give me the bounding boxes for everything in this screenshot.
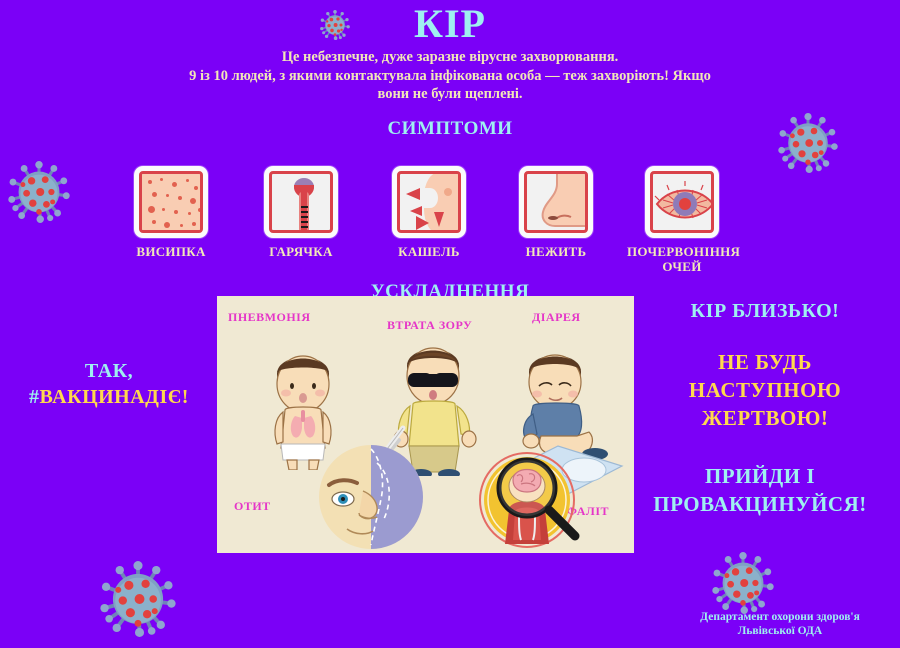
hashtag-symbol: # — [29, 386, 40, 408]
slogan-right-3-line-1: ПРИЙДИ І — [620, 462, 900, 490]
red-eye-card — [645, 166, 719, 238]
credit-line-1: Департамент охорони здоров'я — [660, 610, 900, 624]
symptom-card-runny-nose: НЕЖИТЬ — [519, 166, 593, 238]
slogan-right-2-line-2: НАСТУПНОЮ — [630, 376, 900, 404]
complication-label-diarrhea: ДІАРЕЯ — [532, 310, 581, 325]
runny-nose-card — [519, 166, 593, 238]
cough-card — [392, 166, 466, 238]
intro-line-2: 9 із 10 людей, з якими контактувала інфі… — [60, 67, 840, 86]
figure-otitis-ear — [315, 441, 427, 551]
complication-label-vision-loss: ВТРАТА ЗОРУ — [387, 318, 472, 333]
runny-nose-icon — [524, 171, 588, 233]
credit-block: Департамент охорони здоров'я Львівської … — [660, 610, 900, 638]
symptom-card-fever: ГАРЯЧКА — [264, 166, 338, 238]
slogan-right-3: ПРИЙДИ І ПРОВАКЦИНУЙСЯ! — [620, 462, 900, 518]
credit-line-2: Львівської ОДА — [660, 624, 900, 638]
symptom-card-red-eye: ПОЧЕРВОНІННЯ ОЧЕЙ — [645, 166, 719, 238]
intro-line-1: Це небезпечне, дуже заразне вірусне захв… — [60, 48, 840, 67]
slogan-left-line-1: ТАК, — [0, 358, 218, 384]
cough-icon — [397, 171, 461, 233]
poster-canvas: КІР Це небезпечне, дуже заразне вірусне … — [0, 0, 900, 648]
symptom-label-rash: ВИСИПКА — [112, 244, 230, 259]
slogan-left-hashtag: ВАКЦИНАДІЄ! — [40, 386, 189, 408]
virus-particle-bottom-right-icon — [712, 552, 774, 619]
page-title: КІР — [0, 2, 900, 46]
thermometer-icon — [269, 171, 333, 233]
fever-card — [264, 166, 338, 238]
complication-label-otitis: ОТИТ — [234, 499, 271, 514]
figure-encephalitis — [475, 448, 585, 552]
slogan-left: ТАК, #ВАКЦИНАДІЄ! — [0, 358, 218, 410]
symptom-card-cough: КАШЕЛЬ — [392, 166, 466, 238]
complications-panel: ПНЕВМОНІЯ ВТРАТА ЗОРУ ДІАРЕЯ ОТИТ ЕНЦЕФА… — [217, 296, 634, 553]
symptoms-heading: СИМПТОМИ — [0, 118, 900, 140]
slogan-right-3-line-2: ПРОВАКЦИНУЙСЯ! — [620, 490, 900, 518]
symptom-label-fever: ГАРЯЧКА — [242, 244, 360, 259]
intro-line-3: вони не були щеплені. — [60, 85, 840, 104]
intro-text: Це небезпечне, дуже заразне вірусне захв… — [60, 48, 840, 104]
virus-particle-bottom-left-icon — [100, 560, 176, 643]
slogan-right-2-line-1: НЕ БУДЬ — [630, 348, 900, 376]
rash-card — [134, 166, 208, 238]
slogan-right-2-line-3: ЖЕРТВОЮ! — [630, 404, 900, 432]
virus-particle-top-right-icon — [778, 112, 838, 179]
slogan-left-line-2: #ВАКЦИНАДІЄ! — [0, 384, 218, 410]
rash-icon — [139, 171, 203, 233]
symptom-label-cough: КАШЕЛЬ — [370, 244, 488, 259]
symptom-label-red-eye: ПОЧЕРВОНІННЯ ОЧЕЙ — [627, 244, 737, 274]
symptom-label-runny-nose: НЕЖИТЬ — [497, 244, 615, 259]
virus-particle-left-icon — [8, 158, 70, 231]
complication-label-pneumonia: ПНЕВМОНІЯ — [228, 310, 311, 325]
red-eye-icon — [650, 171, 714, 233]
symptom-card-rash: ВИСИПКА — [134, 166, 208, 238]
slogan-right-1: КІР БЛИЗЬКО! — [630, 300, 900, 323]
slogan-right-2: НЕ БУДЬ НАСТУПНОЮ ЖЕРТВОЮ! — [630, 348, 900, 432]
